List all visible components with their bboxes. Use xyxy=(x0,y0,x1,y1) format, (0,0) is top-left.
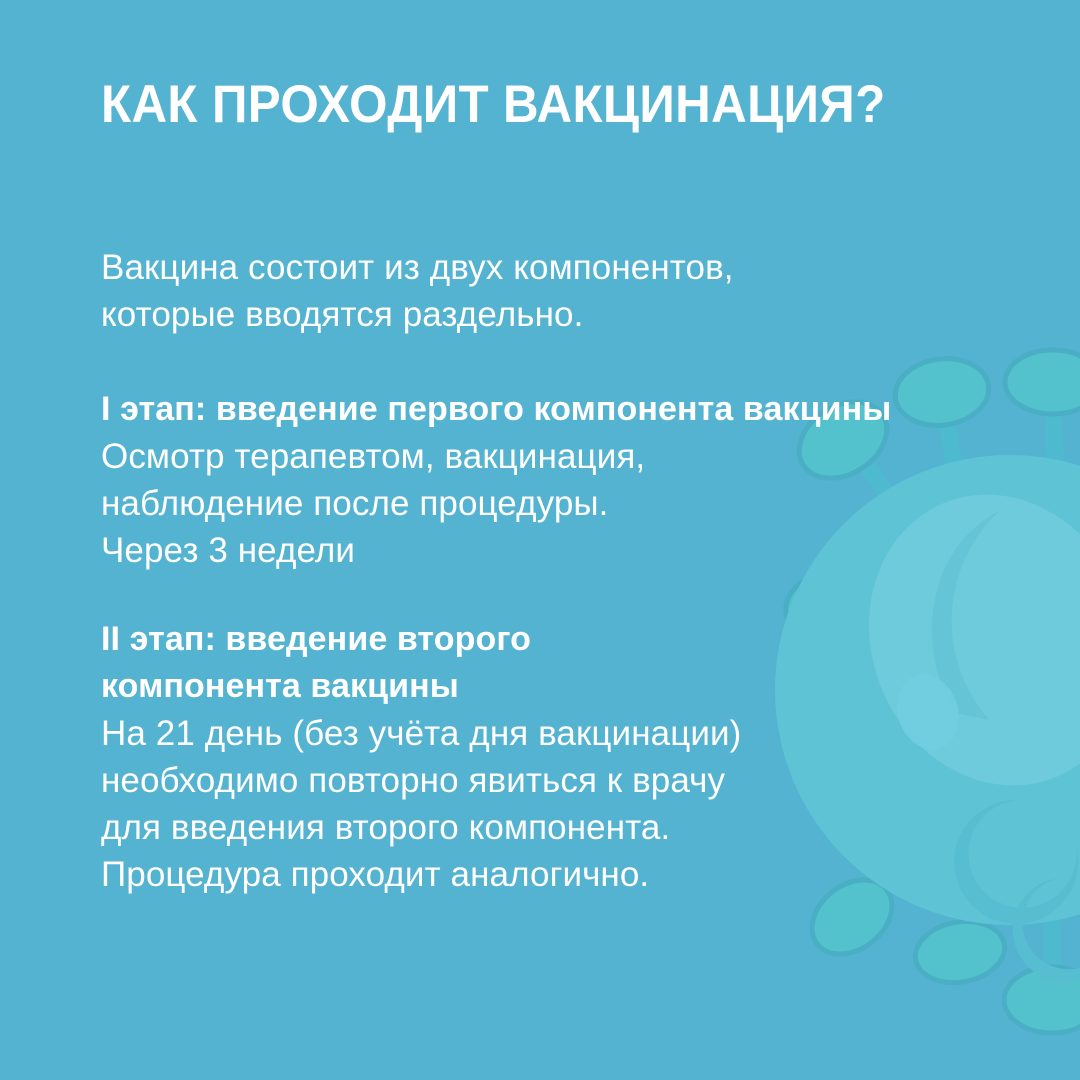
vaccination-infographic-slide: КАК ПРОХОДИТ ВАКЦИНАЦИЯ? Вакцина состоит… xyxy=(0,0,1080,1080)
stage-1-body-line: наблюдение после процедуры. xyxy=(101,480,1031,527)
stage-2-heading: II этап: введение второго xyxy=(101,616,1031,663)
stage-2-body-line: необходимо повторно явиться к врачу xyxy=(101,757,1031,804)
stage-1-body-line: Через 3 недели xyxy=(101,527,1031,574)
stage-1-heading: I этап: введение первого компонента вакц… xyxy=(101,386,1031,433)
intro-paragraph: Вакцина состоит из двух компонентов, кот… xyxy=(101,244,1031,338)
slide-content: КАК ПРОХОДИТ ВАКЦИНАЦИЯ? Вакцина состоит… xyxy=(101,0,1031,1080)
stage-1-block: I этап: введение первого компонента вакц… xyxy=(101,386,1031,574)
page-title: КАК ПРОХОДИТ ВАКЦИНАЦИЯ? xyxy=(101,76,886,134)
stage-1-body-line: Осмотр терапевтом, вакцинация, xyxy=(101,433,1031,480)
stage-2-body-line: Процедура проходит аналогично. xyxy=(101,851,1031,898)
stage-2-block: II этап: введение второго компонента вак… xyxy=(101,616,1031,898)
stage-2-heading: компонента вакцины xyxy=(101,663,1031,710)
stage-2-body-line: для введения второго компонента. xyxy=(101,804,1031,851)
intro-line: которые вводятся раздельно. xyxy=(101,291,1031,338)
intro-line: Вакцина состоит из двух компонентов, xyxy=(101,244,1031,291)
stage-2-body-line: На 21 день (без учёта дня вакцинации) xyxy=(101,710,1031,757)
